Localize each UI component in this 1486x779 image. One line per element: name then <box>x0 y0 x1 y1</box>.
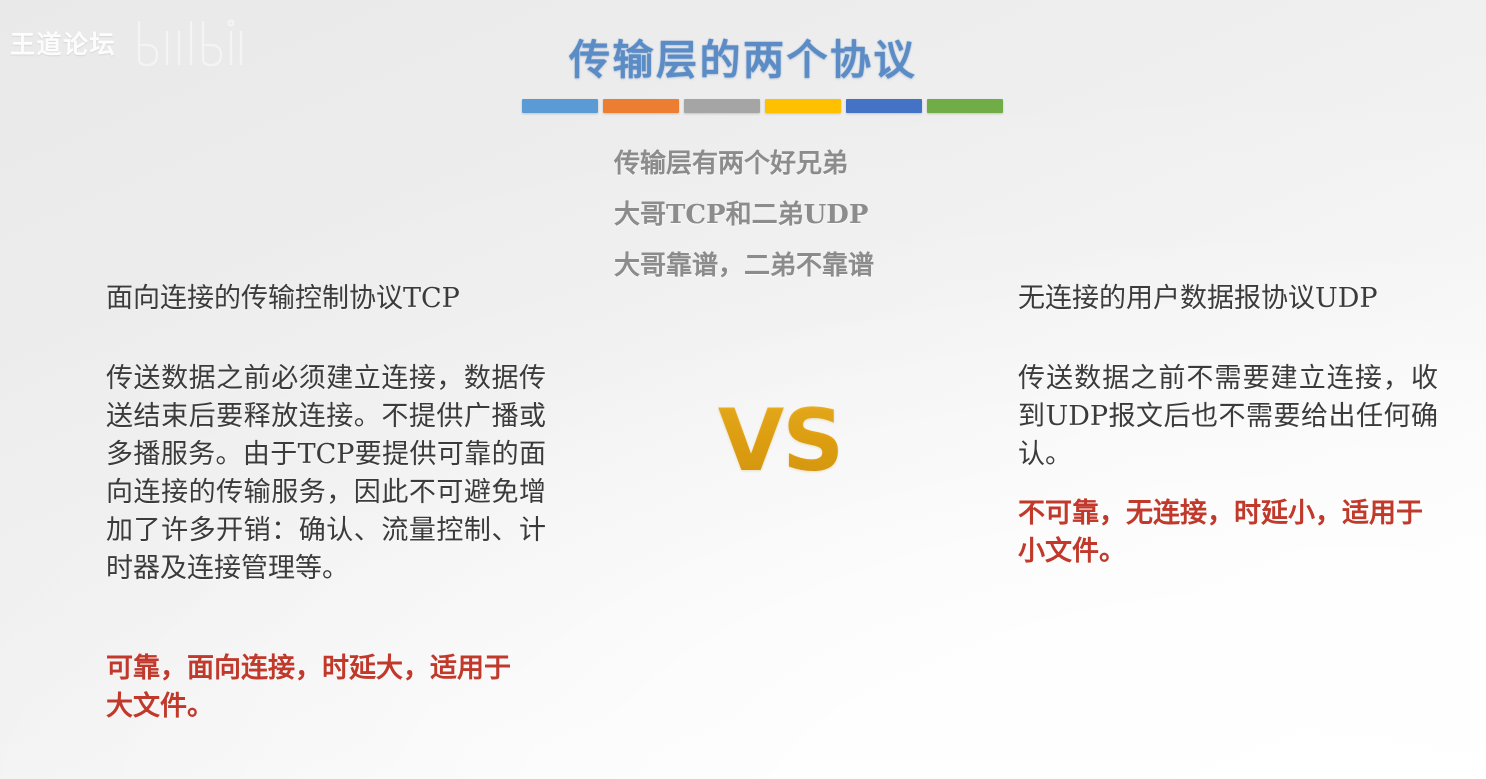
udp-body-text: 传送数据之前不需要建立连接，收到UDP报文后也不需要给出任何确认。 <box>1018 360 1438 474</box>
udp-column: 无连接的用户数据报协议UDP 传送数据之前不需要建立连接，收到UDP报文后也不需… <box>1018 282 1448 474</box>
color-bar-strip <box>522 99 1003 113</box>
subtitle-line-3: 大哥靠谱，二弟不靠谱 <box>614 241 1014 292</box>
vs-label: VS <box>700 398 860 484</box>
subtitle-line-1: 传输层有两个好兄弟 <box>614 139 1014 190</box>
tcp-heading: 面向连接的传输控制协议TCP <box>106 282 551 316</box>
page-title: 传输层的两个协议 <box>0 26 1486 86</box>
bar-blue <box>522 99 598 113</box>
slide-canvas: 王道论坛 传输层的两个协议 <box>0 0 1486 779</box>
bar-yellow <box>765 99 841 113</box>
bar-green <box>927 99 1003 113</box>
tcp-column: 面向连接的传输控制协议TCP 传送数据之前必须建立连接，数据传送结束后要释放连接… <box>106 282 551 588</box>
bar-darkblue <box>846 99 922 113</box>
bar-gray <box>684 99 760 113</box>
tcp-summary-text: 可靠，面向连接，时延大，适用于大文件。 <box>106 650 536 726</box>
udp-heading: 无连接的用户数据报协议UDP <box>1018 282 1448 316</box>
udp-summary-text: 不可靠，无连接，时延小，适用于小文件。 <box>1018 495 1448 571</box>
tcp-body-text: 传送数据之前必须建立连接，数据传送结束后要释放连接。不提供广播或多播服务。由于T… <box>106 360 546 588</box>
subtitle-line-2: 大哥TCP和二弟UDP <box>614 190 1014 241</box>
subtitle-block: 传输层有两个好兄弟 大哥TCP和二弟UDP 大哥靠谱，二弟不靠谱 <box>614 139 1014 292</box>
bar-orange <box>603 99 679 113</box>
